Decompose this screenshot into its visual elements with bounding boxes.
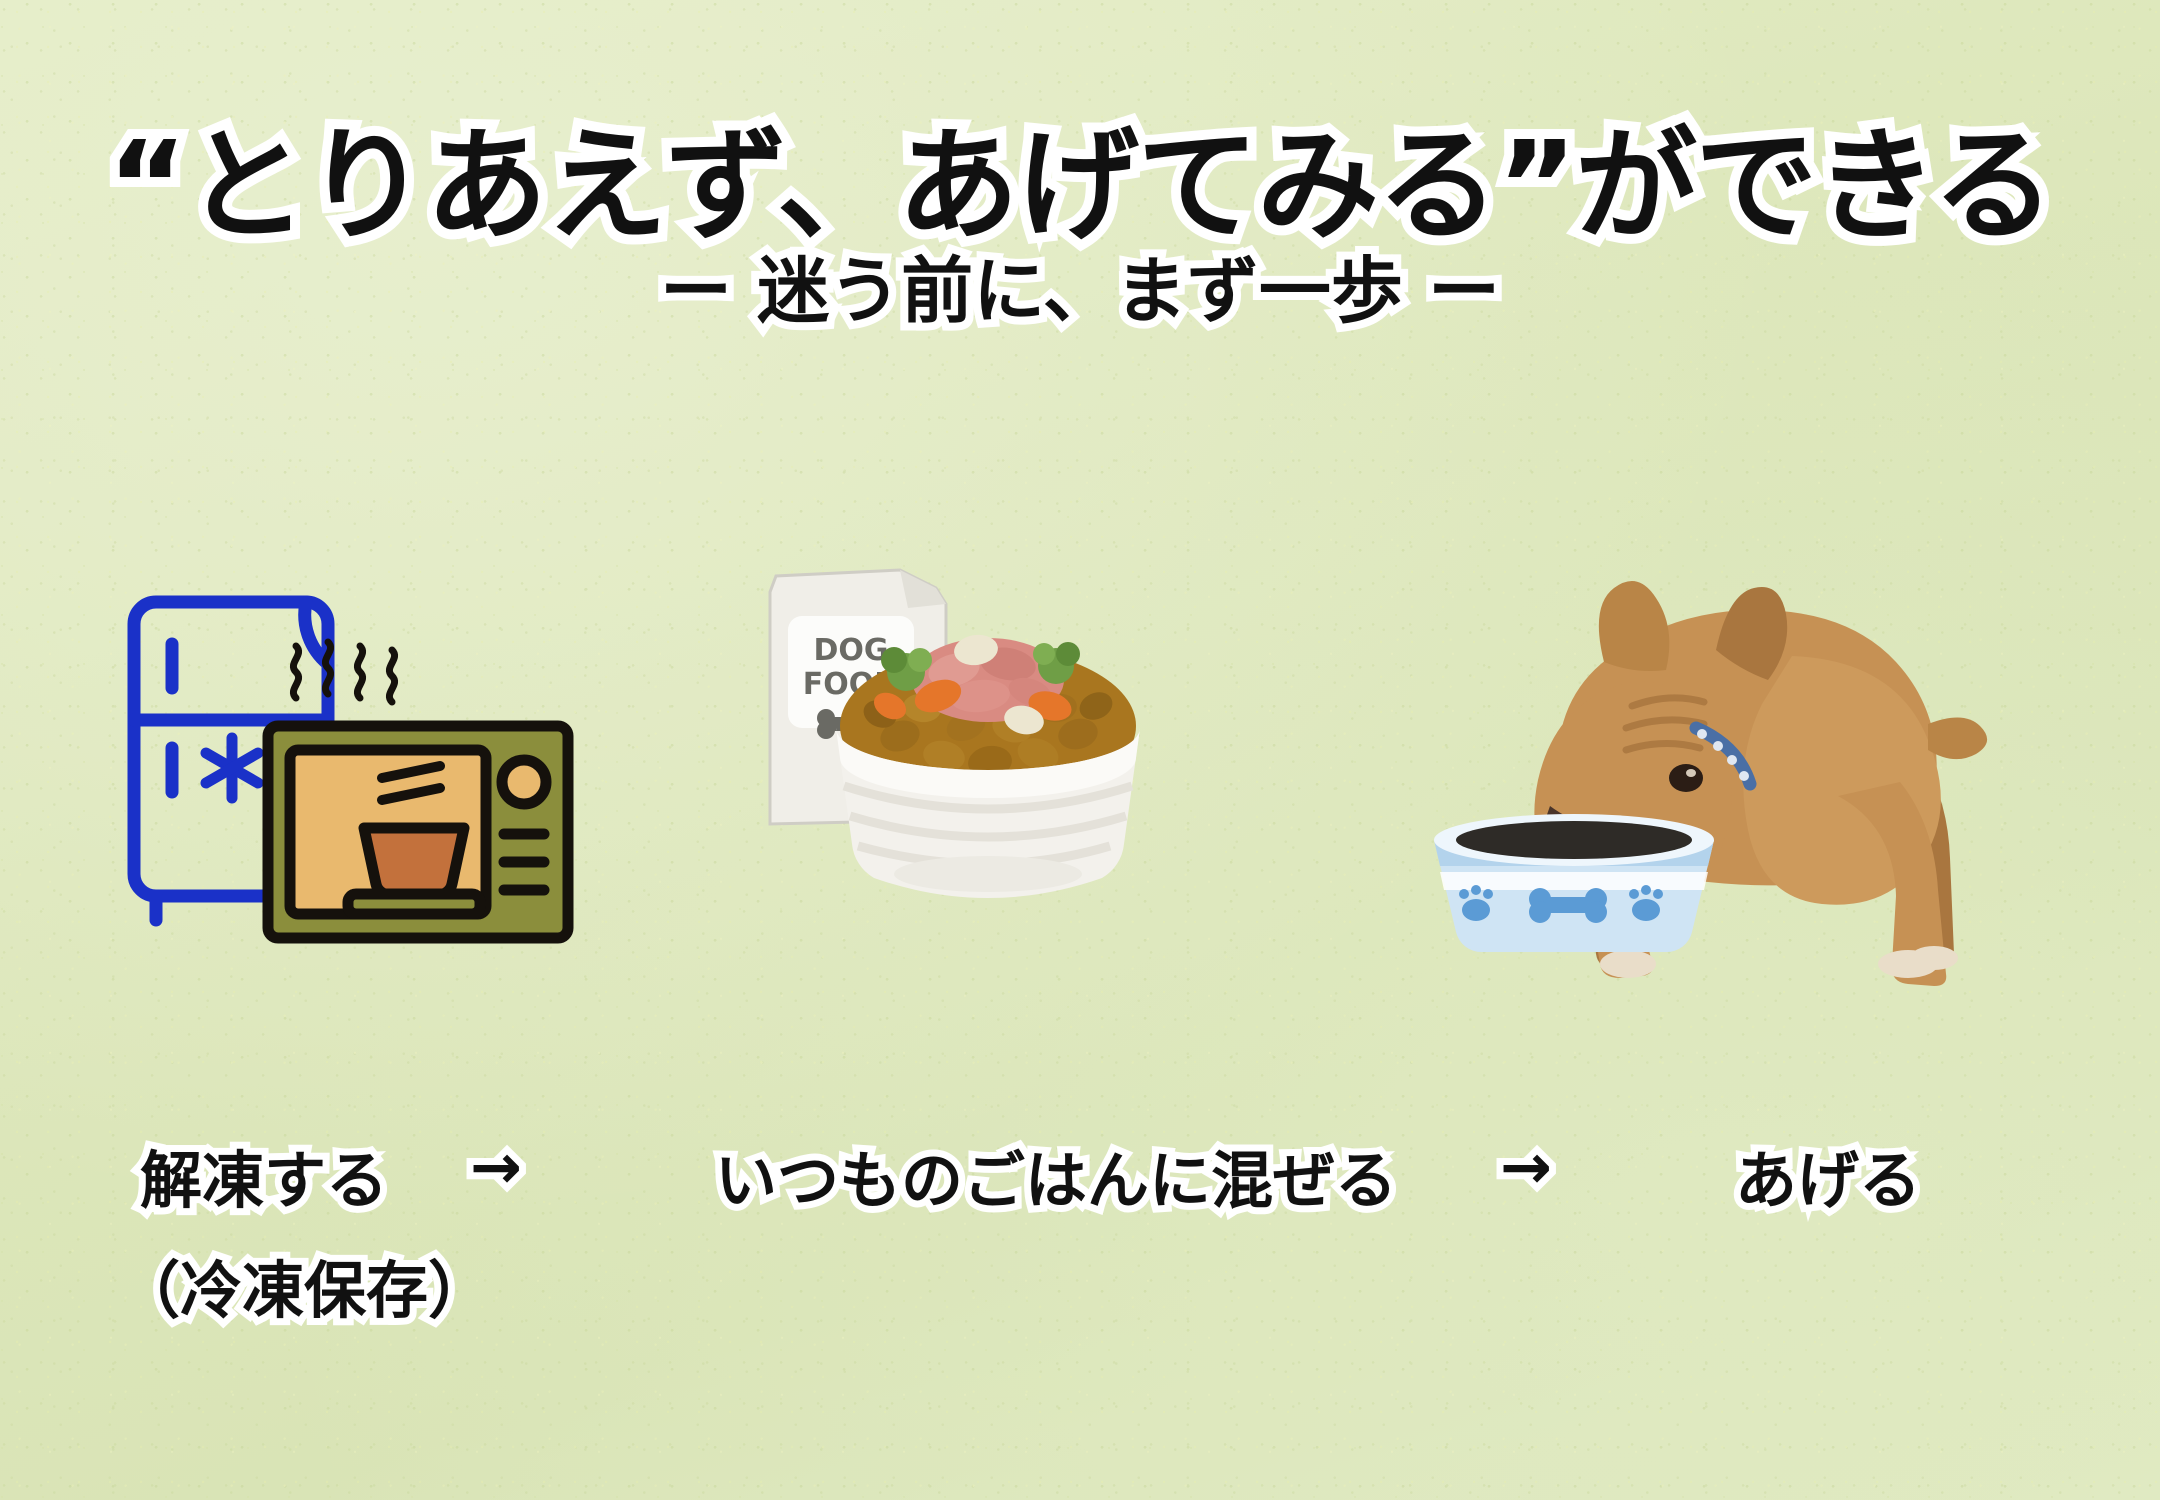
flow-arrow-1: →: [470, 1130, 522, 1203]
flow-arrow-2: →: [1500, 1130, 1552, 1203]
step-caption-mix: いつものごはんに混ぜる: [715, 1130, 1397, 1220]
microwave-icon: [268, 726, 568, 938]
dog-eating-illustration: [1400, 510, 2040, 980]
page-subtitle: ー 迷う前に、まず一歩 ー: [660, 232, 1500, 337]
food-bowl-icon: [836, 632, 1140, 898]
dog-bowl-icon: [1434, 814, 1714, 952]
step-caption-freeze-line2: （冷凍保存）: [118, 1240, 490, 1330]
snowflake-icon: [206, 738, 258, 798]
step-caption-serve: あげる: [1735, 1130, 1921, 1220]
dogfood-bag-label-line1: DOG: [813, 633, 888, 668]
caption-row: 解凍する （冷凍保存） → いつものごはんに混ぜる → あげる: [0, 1130, 2160, 1430]
steps-illustration-row: DOG FOOD: [0, 560, 2160, 1160]
dogfood-bowl-illustration: DOG FOOD: [740, 530, 1210, 970]
step-caption-freeze-line1: 解凍する: [140, 1130, 388, 1220]
subheadline-block: ー 迷う前に、まず一歩 ー: [0, 232, 2160, 337]
fridge-microwave-illustration: [120, 570, 620, 970]
